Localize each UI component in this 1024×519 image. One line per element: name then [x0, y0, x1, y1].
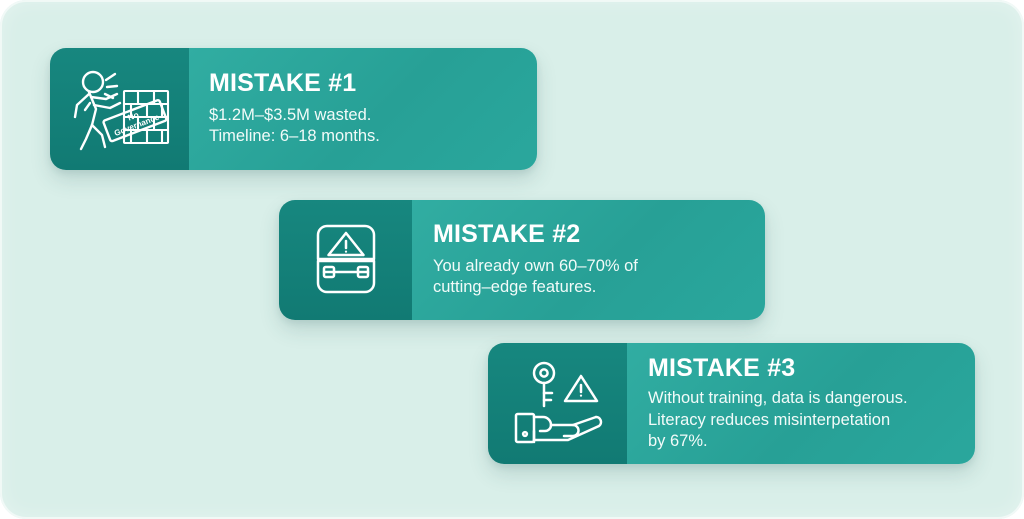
- card-title-1: MISTAKE #1: [209, 70, 537, 98]
- card-desc-3: Without training, data is dangerous. Lit…: [648, 388, 975, 452]
- card-desc-1: $1.2M–$3.5M wasted. Timeline: 6–18 month…: [209, 105, 537, 148]
- card-desc-2-line-1: You already own 60–70% of: [433, 256, 765, 277]
- mistake-card-3[interactable]: MISTAKE #3 Without training, data is dan…: [488, 343, 975, 464]
- infographic-canvas: No Governance MISTAKE #1 $1.2M–$3.5M was…: [0, 0, 1024, 519]
- body-panel-2: MISTAKE #2 You already own 60–70% of cut…: [412, 200, 765, 320]
- card-desc-2: You already own 60–70% of cutting–edge f…: [433, 256, 765, 299]
- card-desc-1-line-1: $1.2M–$3.5M wasted.: [209, 105, 537, 126]
- mistake-card-2[interactable]: MISTAKE #2 You already own 60–70% of cut…: [279, 200, 765, 320]
- person-running-into-brick-wall-icon: No Governance: [68, 65, 172, 153]
- icon-panel-3: [488, 343, 627, 464]
- card-title-2: MISTAKE #2: [433, 221, 765, 249]
- toolbox-warning-icon: [310, 218, 382, 302]
- mistake-card-1[interactable]: No Governance MISTAKE #1 $1.2M–$3.5M was…: [50, 48, 537, 170]
- card-desc-2-line-2: cutting–edge features.: [433, 277, 765, 298]
- card-desc-3-line-2: Literacy reduces misinterpetation: [648, 410, 975, 431]
- icon-panel-1: No Governance: [50, 48, 189, 170]
- body-panel-1: MISTAKE #1 $1.2M–$3.5M wasted. Timeline:…: [189, 48, 537, 170]
- card-title-3: MISTAKE #3: [648, 355, 975, 383]
- card-desc-1-line-2: Timeline: 6–18 months.: [209, 126, 537, 147]
- hand-holding-key-warning-icon: [510, 360, 606, 448]
- card-desc-3-line-3: by 67%.: [648, 431, 975, 452]
- icon-panel-2: [279, 200, 412, 320]
- card-desc-3-line-1: Without training, data is dangerous.: [648, 388, 975, 409]
- body-panel-3: MISTAKE #3 Without training, data is dan…: [627, 343, 975, 464]
